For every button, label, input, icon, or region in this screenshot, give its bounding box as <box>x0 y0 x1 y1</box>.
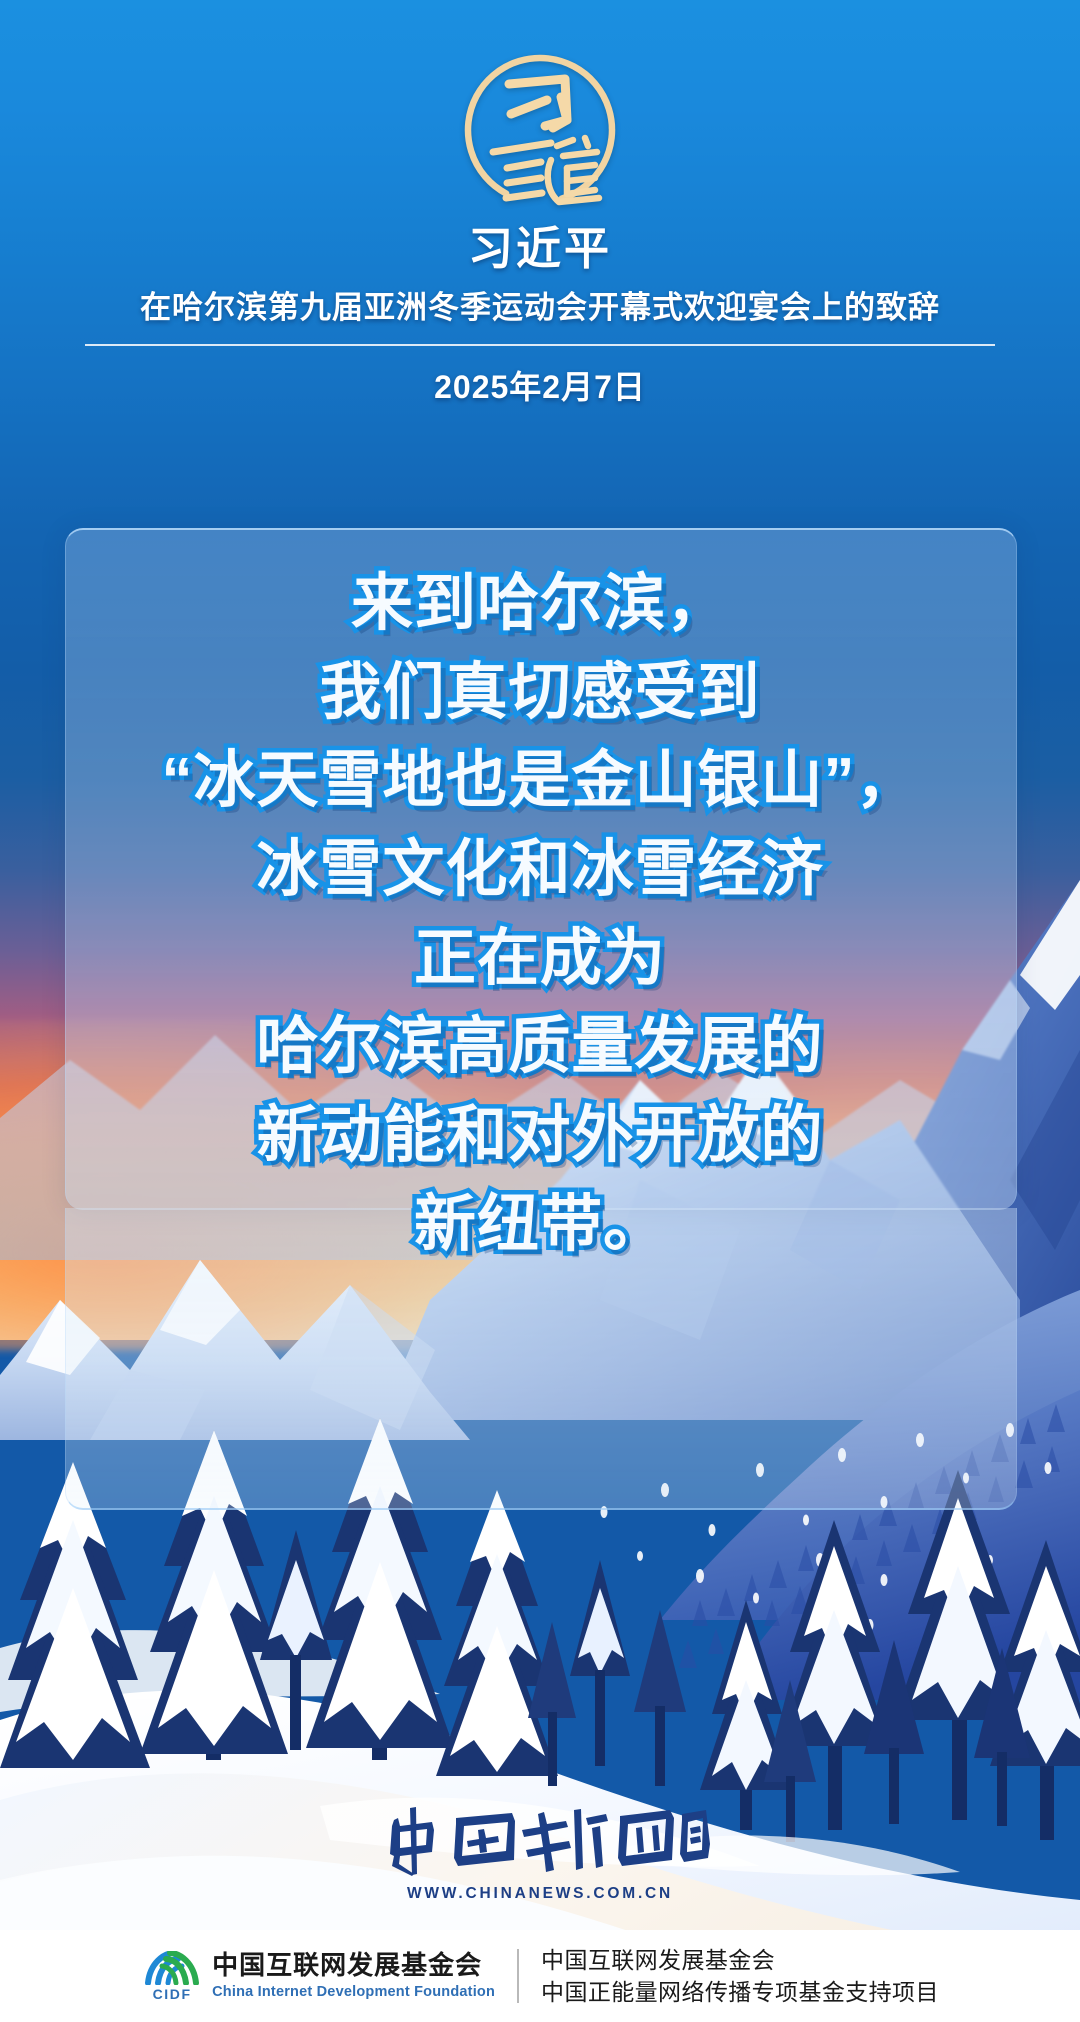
cidf-mark: CIDF <box>141 1951 203 2002</box>
cidf-name-en: China Internet Development Foundation <box>212 1983 495 2002</box>
poster-header: 习近平 在哈尔滨第九届亚洲冬季运动会开幕式欢迎宴会上的致辞 2025年2月7日 <box>0 222 1080 408</box>
seal-char-xi <box>509 79 567 128</box>
quote-card-panel-lower <box>65 1208 1017 1510</box>
quote-card-panel <box>65 528 1017 1210</box>
poster-root: 习近平 在哈尔滨第九届亚洲冬季运动会开幕式欢迎宴会上的致辞 2025年2月7日 … <box>0 0 1080 2022</box>
xiyandao-seal-logo <box>449 42 631 220</box>
seal-char-dao <box>548 138 599 202</box>
speech-date: 2025年2月7日 <box>0 362 1080 408</box>
header-divider <box>85 344 995 346</box>
chinanews-watermark: WWW.CHINANEWS.COM.CN <box>280 1804 800 1903</box>
footer-credit-line-1: 中国互联网发展基金会 <box>541 1947 939 1973</box>
footer-divider <box>517 1949 519 2003</box>
chinanews-calligraphy <box>390 1807 710 1876</box>
sponsor-footer-bar: CIDF 中国互联网发展基金会 China Internet Developme… <box>0 1930 1080 2022</box>
cidf-abbrev: CIDF <box>153 1986 192 2002</box>
cidf-names: 中国互联网发展基金会 China Internet Development Fo… <box>212 1951 495 2002</box>
chinanews-wordmark-icon <box>370 1804 710 1878</box>
footer-credit-lines: 中国互联网发展基金会 中国正能量网络传播专项基金支持项目 <box>541 1947 939 2006</box>
speaker-name: 习近平 <box>0 222 1080 275</box>
occasion-title: 在哈尔滨第九届亚洲冬季运动会开幕式欢迎宴会上的致辞 <box>0 289 1080 328</box>
chinanews-url: WWW.CHINANEWS.COM.CN <box>280 1885 800 1903</box>
cidf-logo-group: CIDF 中国互联网发展基金会 China Internet Developme… <box>141 1951 495 2002</box>
cidf-arcs-icon <box>144 1951 200 1985</box>
footer-credit-line-2: 中国正能量网络传播专项基金支持项目 <box>541 1979 939 2005</box>
cidf-name-cn: 中国互联网发展基金会 <box>212 1951 495 1980</box>
